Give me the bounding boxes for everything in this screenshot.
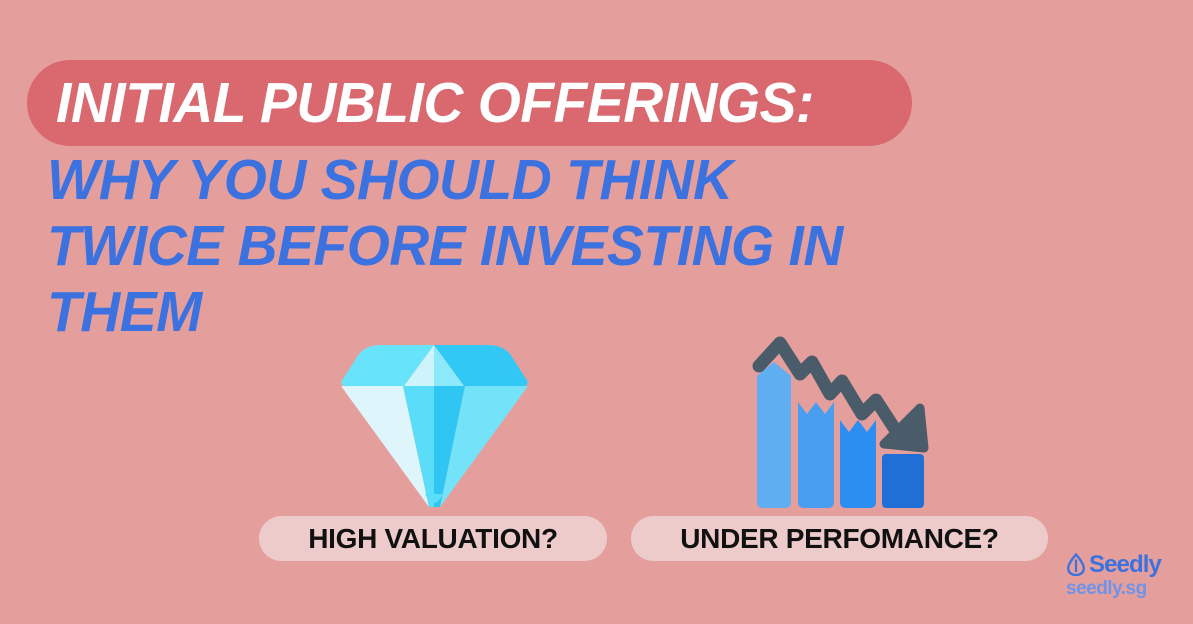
subtitle-line-2: TWICE BEFORE INVESTING IN <box>47 213 1017 279</box>
seedly-logo[interactable]: Seedly seedly.sg <box>1066 551 1178 599</box>
label-pill-high-valuation-text: HIGH VALUATION? <box>308 525 558 553</box>
headline-subtitle: WHY YOU SHOULD THINK TWICE BEFORE INVEST… <box>47 147 1047 345</box>
headline-banner-text: INITIAL PUBLIC OFFERINGS: <box>56 75 814 132</box>
diamond-illustration <box>341 344 528 508</box>
poster-canvas: INITIAL PUBLIC OFFERINGS: WHY YOU SHOULD… <box>0 0 1193 624</box>
subtitle-line-1: WHY YOU SHOULD THINK <box>47 147 1017 213</box>
bar-chart-down-icon <box>750 336 930 508</box>
chart-bar-2 <box>798 402 834 508</box>
declining-chart-illustration <box>750 336 930 508</box>
diamond-icon <box>341 344 528 508</box>
water-drop-icon <box>1066 553 1086 576</box>
seedly-url: seedly.sg <box>1066 578 1178 599</box>
seedly-wordmark: Seedly <box>1089 553 1161 576</box>
chart-bar-4 <box>882 454 924 508</box>
chart-bar-3 <box>840 420 876 508</box>
headline-banner: INITIAL PUBLIC OFFERINGS: <box>27 60 912 146</box>
chart-bar-1 <box>757 362 791 508</box>
label-pill-under-performance-text: UNDER PERFOMANCE? <box>680 525 998 553</box>
seedly-logo-row: Seedly <box>1066 551 1178 577</box>
label-pill-high-valuation[interactable]: HIGH VALUATION? <box>259 516 607 561</box>
label-pill-under-performance[interactable]: UNDER PERFOMANCE? <box>631 516 1048 561</box>
